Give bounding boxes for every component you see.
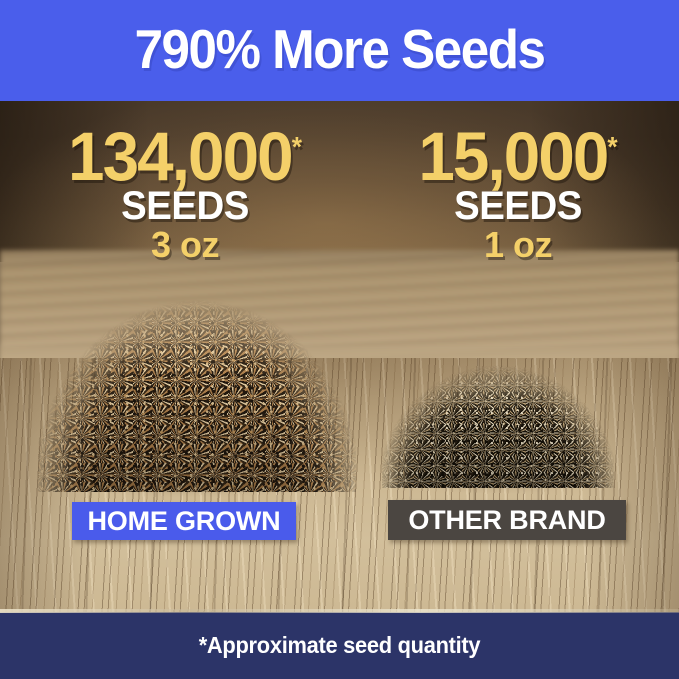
header-banner: 790% More Seeds [0, 0, 679, 101]
seed-pile-highlight [38, 292, 356, 492]
weight-other-brand: 1 oz [368, 227, 668, 263]
brand-label-home-grown: HOME GROWN [72, 502, 296, 540]
stats-row: 134,000* SEEDS 3 oz 15,000* SEEDS 1 oz [0, 124, 679, 264]
footer-banner: *Approximate seed quantity [0, 612, 679, 679]
seed-pile-other-brand [382, 360, 614, 488]
weight-home-grown: 3 oz [10, 227, 360, 263]
stat-block-home-grown: 134,000* SEEDS 3 oz [10, 124, 360, 263]
seeds-label-other-brand: SEEDS [374, 186, 662, 226]
brand-label-other-brand: OTHER BRAND [388, 500, 626, 540]
seeds-label-home-grown: SEEDS [17, 186, 353, 226]
seed-pile-highlight [382, 360, 614, 488]
footer-top-edge [0, 609, 679, 613]
asterisk-marker: * [292, 131, 302, 162]
asterisk-marker: * [607, 131, 617, 162]
page-title: 790% More Seeds [24, 17, 655, 81]
product-comparison-image: 790% More Seeds 134,000* SEEDS 3 oz 15,0… [0, 0, 679, 679]
stat-block-other-brand: 15,000* SEEDS 1 oz [368, 124, 668, 263]
seed-pile-home-grown [38, 292, 356, 492]
seed-count-other-brand: 15,000* [376, 124, 661, 190]
seed-count-home-grown: 134,000* [19, 124, 352, 190]
footnote-text: *Approximate seed quantity [17, 632, 662, 659]
